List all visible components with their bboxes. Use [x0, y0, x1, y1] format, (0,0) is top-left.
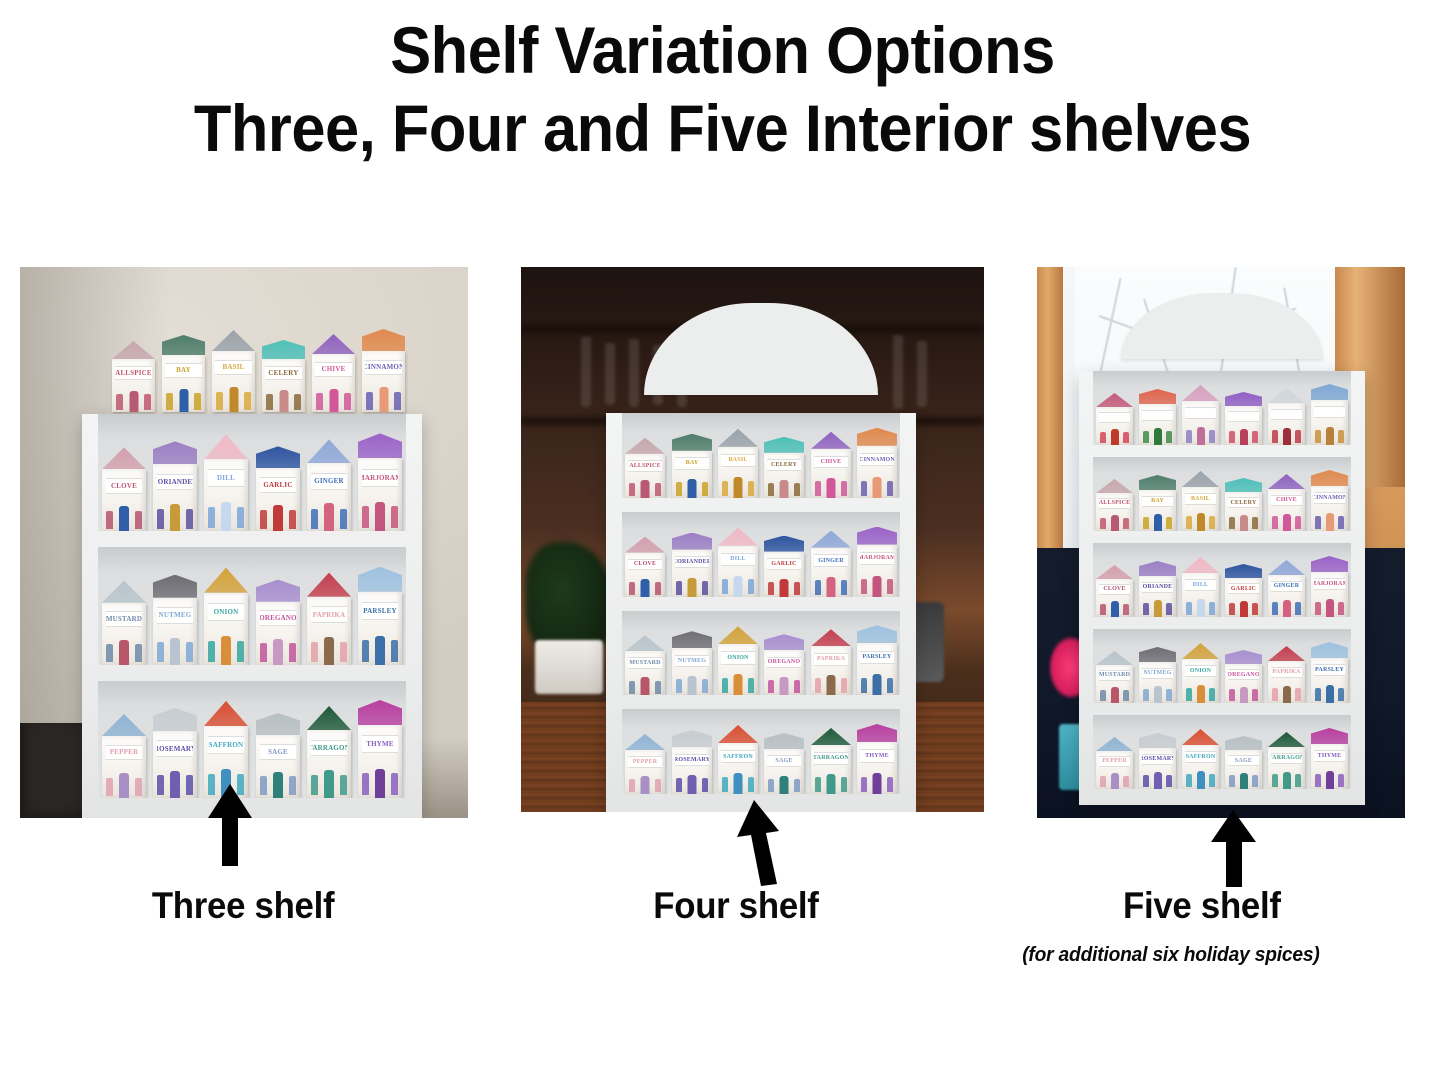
- spice-jar: CHIVE: [312, 334, 355, 412]
- jar-window: [887, 678, 893, 693]
- jar-window: [1252, 603, 1258, 615]
- jar-window: [702, 482, 708, 496]
- jar-window: [208, 641, 215, 662]
- jar-body: TARRAGON: [307, 730, 351, 798]
- jar-roof: [1139, 389, 1176, 404]
- jar-body: TARRAGON: [1268, 747, 1305, 789]
- jar-door: [873, 674, 882, 695]
- jar-door: [1111, 687, 1119, 703]
- spice-jar: DILL: [204, 434, 248, 531]
- jar-label: GINGER: [311, 473, 348, 490]
- jar-body: CLOVE: [625, 553, 665, 597]
- jar-door: [780, 776, 789, 794]
- shelf-row: [1093, 371, 1351, 445]
- jar-body: CINNAMON: [1311, 486, 1348, 531]
- jar-door: [1154, 600, 1162, 617]
- jar-body: BAY: [1139, 490, 1176, 531]
- spice-jar: ONION: [1182, 643, 1219, 703]
- jar-label: ONION: [1185, 665, 1216, 677]
- jar-door: [734, 576, 743, 597]
- jar-body: CHIVE: [811, 449, 851, 498]
- jar-roof: [1311, 642, 1348, 658]
- up-arrow-icon-five: [1198, 808, 1270, 888]
- jar-window: [1338, 516, 1344, 529]
- jar-label: ROSEMARY: [1142, 754, 1173, 765]
- jar-body: SAFFRON: [718, 743, 758, 794]
- jar-body: BASIL: [718, 447, 758, 498]
- jar-window: [1100, 690, 1106, 701]
- jar-roof: [162, 335, 205, 355]
- jar-label: PAPRIKA: [814, 653, 848, 666]
- jar-body: SAGE: [1225, 750, 1262, 789]
- jar-label: OREGANO: [767, 657, 801, 669]
- jar-label: BAY: [1142, 496, 1173, 507]
- jar-window: [861, 481, 867, 496]
- jar-door: [641, 480, 650, 498]
- jar-roof: [307, 706, 351, 730]
- jar-door: [1283, 514, 1291, 531]
- jar-window: [1209, 516, 1215, 529]
- jar-body: CORIANDER: [153, 464, 197, 531]
- jar-roof: [1139, 647, 1176, 662]
- jar-roof: [1225, 564, 1262, 578]
- jar-window: [1229, 517, 1235, 529]
- jar-door: [1283, 686, 1291, 703]
- jar-window: [208, 507, 215, 528]
- jar-window: [157, 509, 164, 529]
- spice-jar: TARRAGON: [307, 706, 351, 798]
- jar-label: [1099, 412, 1130, 422]
- jar-roof: [672, 730, 712, 747]
- jar-window: [1186, 688, 1192, 701]
- jar-window: [311, 642, 318, 662]
- jar-window: [244, 392, 251, 410]
- jar-label: NUTMEG: [1142, 668, 1173, 679]
- shelf-unit-four: ALLSPICEBAYBASILCELERYCHIVECINNAMONCLOVE…: [606, 303, 916, 812]
- jar-door: [119, 640, 129, 665]
- jar-roof: [358, 567, 402, 592]
- jar-door: [229, 387, 238, 412]
- jar-label: BASIL: [721, 454, 755, 467]
- jar-window: [144, 394, 151, 410]
- jar-label: CELERY: [767, 459, 801, 471]
- jar-window: [841, 580, 847, 595]
- jar-window: [1229, 603, 1235, 615]
- jar-label: DILL: [721, 553, 755, 566]
- jar-label: MARJORAM: [362, 469, 399, 487]
- jar-roof: [625, 635, 665, 651]
- caption-three-shelf: Three shelf: [152, 885, 334, 927]
- jar-window: [1252, 689, 1258, 701]
- jar-label: CELERY: [1228, 497, 1259, 508]
- jar-window: [748, 481, 754, 496]
- jar-body: MUSTARD: [625, 651, 665, 695]
- jar-window: [135, 644, 142, 662]
- jar-window: [629, 483, 635, 496]
- jar-window: [748, 579, 754, 594]
- jar-roof: [718, 528, 758, 546]
- jar-door: [329, 389, 338, 412]
- jar-window: [1123, 604, 1129, 615]
- spice-jar: THYME: [1311, 728, 1348, 789]
- jar-label: THYME: [1314, 750, 1345, 762]
- jar-label: BAY: [165, 363, 201, 378]
- spice-jar: NUTMEG: [153, 575, 197, 665]
- jar-window: [294, 394, 301, 410]
- jar-door: [129, 391, 138, 412]
- jar-window: [655, 483, 661, 496]
- spice-jar: ROSEMARY: [153, 708, 197, 798]
- jar-window: [748, 678, 754, 693]
- jar-label: [1228, 411, 1259, 422]
- jar-door: [1154, 772, 1162, 789]
- jar-door: [780, 480, 789, 498]
- jar-label: [1314, 406, 1345, 418]
- jar-roof: [153, 708, 197, 731]
- jar-roof: [204, 434, 248, 459]
- jar-window: [815, 481, 821, 496]
- jar-door: [1197, 513, 1205, 531]
- jar-label: SAGE: [767, 755, 801, 767]
- jar-door: [1240, 773, 1248, 789]
- spice-jar: CORIANDER: [153, 441, 197, 531]
- spice-jar: OREGANO: [764, 634, 804, 695]
- spice-jar: THYME: [857, 724, 897, 794]
- jar-window: [1252, 775, 1258, 787]
- jar-label: CINNAMON: [1314, 492, 1345, 504]
- jar-window: [676, 778, 682, 792]
- jar-roof: [1311, 384, 1348, 400]
- jar-label: THYME: [362, 735, 399, 753]
- spice-jar: CELERY: [1225, 478, 1262, 531]
- spice-jar: ALLSPICE: [1096, 479, 1133, 531]
- jar-roof: [358, 433, 402, 458]
- jar-roof: [256, 580, 300, 602]
- jar-window: [391, 773, 398, 795]
- jar-body: ALLSPICE: [1096, 493, 1133, 531]
- title-line-2: Three, Four and Five Interior shelves: [51, 94, 1395, 164]
- jar-roof: [764, 437, 804, 453]
- jar-window: [1143, 603, 1149, 615]
- jar-label: OREGANO: [1228, 669, 1259, 680]
- jar-door: [1197, 599, 1205, 617]
- jar-label: MARJORAM: [860, 552, 894, 565]
- jar-window: [887, 481, 893, 496]
- jar-window: [216, 392, 223, 410]
- jar-door: [1240, 429, 1248, 445]
- jar-roof: [1096, 651, 1133, 665]
- spice-jar: SAFFRON: [1182, 729, 1219, 789]
- jar-door: [170, 771, 180, 798]
- jar-body: CHIVE: [1268, 489, 1305, 531]
- jar-door: [375, 769, 385, 798]
- jar-body: GINGER: [1268, 575, 1305, 617]
- shelf-row: CLOVECORIANDERDILLGARLICGINGERMARJORAM: [1093, 543, 1351, 617]
- jar-roof: [1096, 737, 1133, 751]
- jar-label: CLOVE: [106, 478, 143, 494]
- photo-five-shelf: ALLSPICEBAYBASILCELERYCHIVECINNAMONCLOVE…: [1037, 267, 1405, 818]
- jar-door: [688, 676, 697, 695]
- jar-window: [186, 509, 193, 529]
- jar-door: [1240, 515, 1248, 531]
- jar-roof: [625, 734, 665, 750]
- spice-jar: DILL: [718, 528, 758, 597]
- jar-label: THYME: [860, 749, 894, 762]
- jar-door: [827, 577, 836, 597]
- jar-label: CORIANDER: [157, 474, 194, 491]
- jar-window: [1100, 432, 1106, 443]
- jar-body: ROSEMARY: [153, 731, 197, 798]
- jar-roof: [1225, 736, 1262, 750]
- jar-window: [748, 777, 754, 792]
- jar-label: PAPRIKA: [311, 606, 348, 623]
- jar-body: PEPPER: [625, 750, 665, 794]
- jar-window: [1166, 431, 1172, 443]
- jar-label: CELERY: [265, 366, 301, 380]
- jar-body: PEPPER: [1096, 751, 1133, 789]
- jar-roof: [102, 447, 146, 469]
- jar-window: [722, 579, 728, 594]
- jar-window: [186, 775, 193, 795]
- page-title: Shelf Variation Options Three, Four and …: [0, 16, 1445, 164]
- jar-window: [1229, 775, 1235, 787]
- jar-label: MARJORAM: [1314, 578, 1345, 590]
- jar-label: MUSTARD: [1099, 670, 1130, 680]
- jar-window: [1229, 431, 1235, 443]
- jar-roof: [1139, 475, 1176, 490]
- jar-label: CHIVE: [814, 456, 848, 469]
- jar-door: [1197, 427, 1205, 445]
- jar-window: [1272, 774, 1278, 787]
- jar-door: [1240, 687, 1248, 703]
- jar-door: [1197, 685, 1205, 703]
- jar-window: [1295, 602, 1301, 615]
- jar-window: [1100, 776, 1106, 787]
- jar-window: [887, 777, 893, 792]
- jar-label: [1142, 410, 1173, 421]
- jar-body: GINGER: [307, 463, 351, 531]
- jar-window: [135, 778, 142, 796]
- spice-jar: ALLSPICE: [112, 341, 155, 412]
- jar-window: [1295, 688, 1301, 701]
- jar-door: [873, 576, 882, 597]
- jar-window: [629, 779, 635, 792]
- jar-label: ALLSPICE: [628, 460, 662, 472]
- jar-roof: [1311, 470, 1348, 486]
- jar-door: [1326, 599, 1334, 617]
- jar-chimney: [191, 329, 196, 336]
- jar-label: ROSEMARY: [675, 754, 709, 766]
- jar-label: SAFFRON: [208, 736, 245, 754]
- jar-window: [815, 580, 821, 595]
- jar-body: CINNAMON: [362, 351, 405, 412]
- shelf-row: PEPPERROSEMARYSAFFRONSAGETARRAGONTHYME: [1093, 715, 1351, 789]
- jar-label: ALLSPICE: [1099, 498, 1130, 508]
- jar-chimney: [291, 334, 296, 341]
- jar-body: CELERY: [262, 359, 305, 412]
- jar-door: [734, 773, 743, 794]
- jar-window: [340, 642, 347, 662]
- jar-window: [106, 778, 113, 796]
- jar-window: [768, 582, 774, 595]
- jar-body: GARLIC: [1225, 578, 1262, 617]
- jar-window: [1123, 776, 1129, 787]
- spice-jar: MUSTARD: [625, 635, 665, 695]
- spice-jar: GINGER: [307, 439, 351, 531]
- jar-window: [676, 482, 682, 496]
- jar-body: THYME: [857, 742, 897, 794]
- jar-door: [1111, 773, 1119, 789]
- spice-jar: THYME: [358, 700, 402, 798]
- spice-jar: BAY: [672, 434, 712, 498]
- jar-door: [324, 770, 334, 798]
- spice-jar: ALLSPICE: [625, 438, 665, 498]
- jar-window: [166, 393, 173, 410]
- jar-window: [1272, 688, 1278, 701]
- jar-body: ONION: [1182, 659, 1219, 703]
- jar-body: ONION: [204, 593, 248, 665]
- jar-body: DILL: [1182, 573, 1219, 617]
- jar-roof: [1268, 560, 1305, 575]
- jar-window: [394, 392, 401, 410]
- jar-window: [289, 776, 296, 795]
- jar-body: [1182, 401, 1219, 445]
- jar-body: [1139, 404, 1176, 445]
- jar-window: [237, 641, 244, 662]
- jar-window: [887, 579, 893, 594]
- jar-window: [340, 509, 347, 529]
- spice-jar: TARRAGON: [1268, 732, 1305, 789]
- jar-door: [688, 479, 697, 498]
- jar-window: [344, 393, 351, 410]
- spice-jar: CELERY: [764, 437, 804, 498]
- jar-roof: [204, 701, 248, 726]
- jar-body: THYME: [1311, 744, 1348, 789]
- jar-body: BASIL: [212, 351, 255, 412]
- jar-roof: [307, 573, 351, 597]
- spice-jar: PARSLEY: [358, 567, 402, 665]
- jar-window: [1143, 431, 1149, 443]
- spice-jar: GARLIC: [256, 446, 300, 531]
- jar-label: MUSTARD: [628, 657, 662, 669]
- jar-window: [1186, 774, 1192, 787]
- jar-window: [1295, 430, 1301, 443]
- spice-jar: BASIL: [718, 429, 758, 498]
- jar-body: TARRAGON: [811, 745, 851, 794]
- jar-door: [273, 772, 283, 798]
- jar-window: [106, 644, 113, 662]
- jar-window: [1166, 517, 1172, 529]
- jar-body: PAPRIKA: [1268, 661, 1305, 703]
- jar-door: [688, 578, 697, 597]
- jar-window: [135, 511, 142, 529]
- jar-body: CORIANDER: [1139, 576, 1176, 617]
- spice-jar: [1225, 392, 1262, 445]
- jar-window: [1209, 430, 1215, 443]
- spice-jar: SAGE: [1225, 736, 1262, 789]
- jar-window: [768, 680, 774, 693]
- jar-body: DILL: [204, 459, 248, 531]
- jar-roof: [764, 733, 804, 749]
- jar-window: [194, 393, 201, 410]
- jar-window: [157, 775, 164, 795]
- jar-roof: [672, 631, 712, 648]
- spice-jar: MUSTARD: [102, 581, 146, 665]
- jar-label: PARSLEY: [860, 651, 894, 664]
- jar-body: NUTMEG: [153, 598, 197, 665]
- jar-door: [1111, 601, 1119, 617]
- jar-label: PEPPER: [628, 756, 662, 768]
- spice-jar: GINGER: [1268, 560, 1305, 617]
- jar-chimney: [391, 323, 396, 330]
- jar-roof: [1268, 646, 1305, 661]
- jar-label: [1185, 407, 1216, 419]
- jar-window: [1166, 689, 1172, 701]
- up-arrow-icon-four: [723, 798, 801, 886]
- spice-jar: CHIVE: [1268, 474, 1305, 531]
- jar-roof: [1311, 728, 1348, 744]
- jar-body: CHIVE: [312, 354, 355, 412]
- spice-jar: CORIANDER: [672, 533, 712, 597]
- jar-window: [702, 679, 708, 693]
- spice-jar: BASIL: [1182, 471, 1219, 531]
- spice-jar: PARSLEY: [1311, 642, 1348, 703]
- jar-roof: [312, 334, 355, 354]
- jar-door: [170, 638, 180, 665]
- jar-body: OREGANO: [256, 602, 300, 665]
- jar-body: CINNAMON: [857, 446, 897, 498]
- spice-jar: ROSEMARY: [1139, 733, 1176, 789]
- jar-label: NUTMEG: [157, 607, 194, 624]
- jar-window: [1338, 602, 1344, 615]
- jar-window: [1209, 602, 1215, 615]
- jar-roof: [1225, 392, 1262, 406]
- spice-jar: ONION: [204, 568, 248, 665]
- jar-window: [237, 507, 244, 528]
- spice-jar: SAGE: [764, 733, 804, 794]
- jar-roof: [1139, 733, 1176, 748]
- jar-roof: [1096, 565, 1133, 579]
- jar-roof: [1311, 556, 1348, 572]
- jar-label: CORIANDER: [1142, 582, 1173, 593]
- jar-body: OREGANO: [764, 650, 804, 695]
- jar-roof: [625, 438, 665, 454]
- spice-jar: CHIVE: [811, 432, 851, 498]
- jar-window: [266, 394, 273, 410]
- shelf-row: CLOVECORIANDERDILLGARLICGINGERMARJORAM: [98, 414, 406, 531]
- jar-body: SAFFRON: [1182, 745, 1219, 789]
- jar-door: [324, 503, 334, 531]
- jar-window: [1209, 774, 1215, 787]
- jar-window: [289, 510, 296, 529]
- jar-roof: [1182, 643, 1219, 659]
- jar-label: OREGANO: [260, 610, 297, 626]
- jar-window: [861, 777, 867, 792]
- jar-roof: [1182, 385, 1219, 401]
- spice-jar: MARJORAM: [1311, 556, 1348, 617]
- jar-roof: [811, 432, 851, 449]
- spice-jar: ONION: [718, 626, 758, 695]
- jar-door: [1326, 513, 1334, 531]
- jar-label: CHIVE: [1271, 495, 1302, 506]
- spice-jar: PAPRIKA: [1268, 646, 1305, 703]
- jar-body: ONION: [718, 644, 758, 695]
- jar-body: ROSEMARY: [672, 747, 712, 794]
- jar-window: [702, 581, 708, 595]
- shelf-unit-five: ALLSPICEBAYBASILCELERYCHIVECINNAMONCLOVE…: [1079, 293, 1365, 805]
- jar-window: [841, 678, 847, 693]
- spice-jar: CELERY: [262, 340, 305, 412]
